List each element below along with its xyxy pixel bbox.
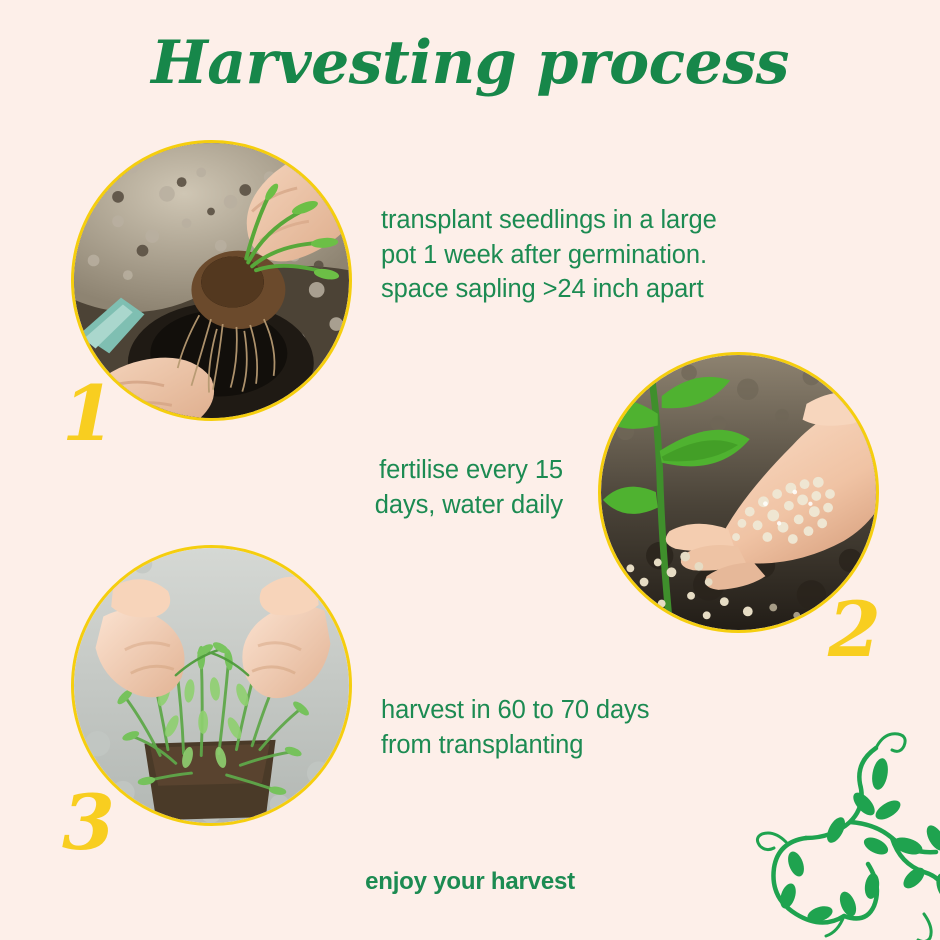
step-1-photo-image [74, 143, 349, 418]
transplanting-seedling-illustration [74, 143, 349, 418]
step-3-photo-image [74, 548, 349, 823]
harvesting-herbs-illustration [74, 548, 349, 823]
step-1-number: 1 [62, 376, 115, 452]
step-2-text: fertilise every 15 days, water daily [260, 453, 563, 522]
step-3-number: 3 [62, 785, 115, 861]
step-2-number: 2 [828, 592, 881, 668]
page-title: Harvesting process [0, 28, 940, 98]
footer-text: enjoy your harvest [0, 868, 940, 896]
harvesting-process-poster: Harvesting process [0, 0, 940, 940]
step-1-text: transplant seedlings in a large pot 1 we… [381, 203, 781, 307]
step-3-text: harvest in 60 to 70 days from transplant… [381, 693, 781, 762]
